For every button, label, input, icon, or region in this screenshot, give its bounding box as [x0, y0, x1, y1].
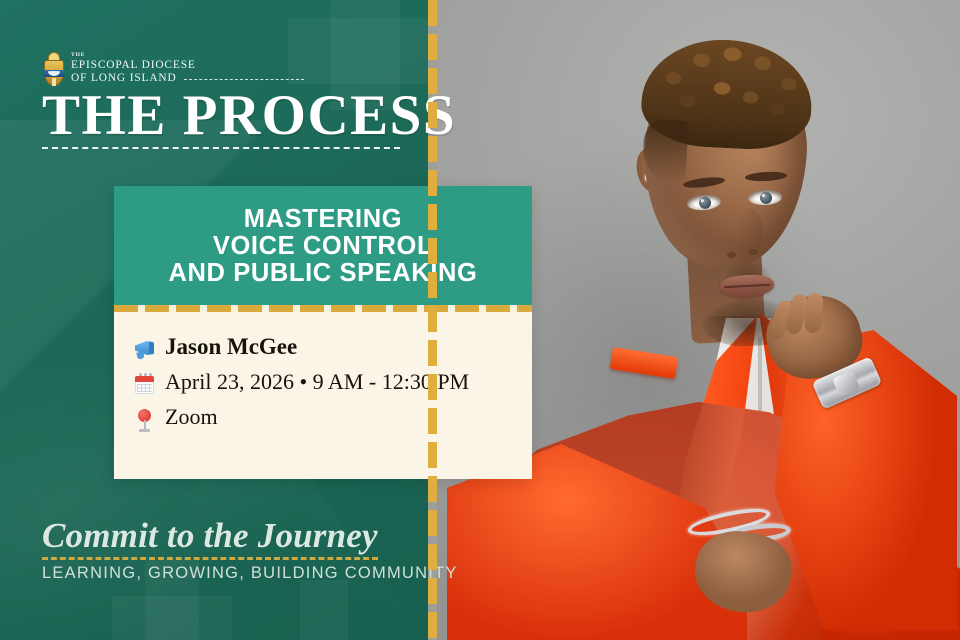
diocese-line-two: OF LONG ISLAND — [71, 72, 177, 85]
pin-base — [139, 429, 150, 432]
event-details: Jason McGee April 23, 2026 • 9 AM - 12:3… — [114, 312, 532, 479]
calendar-icon — [132, 371, 157, 397]
calendar-grid — [137, 384, 152, 392]
nostril-right — [749, 249, 758, 255]
diocese-identity: THE EPISCOPAL DIOCESE OF LONG ISLAND — [42, 52, 404, 88]
calendar-header — [135, 376, 154, 382]
shield-band — [44, 70, 64, 77]
diocese-wordmark: THE EPISCOPAL DIOCESE OF LONG ISLAND — [71, 52, 304, 85]
tagline-dashed-rule — [42, 557, 378, 560]
event-promo-poster: THE EPISCOPAL DIOCESE OF LONG ISLAND THE… — [0, 0, 960, 640]
episcopal-shield-crest-icon — [42, 52, 66, 88]
card-gold-dashed-strip — [114, 305, 532, 312]
event-title-banner: MASTERING VOICE CONTROL AND PUBLIC SPEAK… — [114, 186, 532, 305]
gold-dashed-divider — [428, 0, 437, 640]
diocese-line-one: EPISCOPAL DIOCESE — [71, 59, 304, 72]
event-location: Zoom — [165, 404, 218, 430]
event-title-line-2: VOICE CONTROL — [136, 233, 510, 260]
megaphone-handle — [136, 351, 144, 359]
event-datetime: April 23, 2026 • 9 AM - 12:30 PM — [165, 369, 469, 395]
background-cross-motif — [112, 596, 232, 640]
diocese-line-two-row: OF LONG ISLAND — [71, 72, 304, 85]
background-cross-motif — [300, 580, 348, 640]
iris-right — [760, 192, 772, 204]
detail-row-location: Zoom — [132, 404, 510, 432]
detail-row-speaker: Jason McGee — [132, 334, 510, 362]
event-title-line-1: MASTERING — [136, 206, 510, 233]
masthead: THE EPISCOPAL DIOCESE OF LONG ISLAND THE… — [42, 52, 404, 149]
tagline-subline: LEARNING, GROWING, BUILDING COMMUNITY — [42, 564, 402, 583]
nostril-left — [727, 252, 736, 258]
detail-row-datetime: April 23, 2026 • 9 AM - 12:30 PM — [132, 369, 510, 397]
title-dashed-rule — [42, 147, 400, 149]
diocese-dashed-rule — [184, 79, 304, 80]
event-title-line-3: AND PUBLIC SPEAKING — [136, 260, 510, 287]
breast-pocket — [610, 347, 679, 379]
tagline-headline: Commit to the Journey — [42, 516, 402, 556]
event-card: MASTERING VOICE CONTROL AND PUBLIC SPEAK… — [114, 186, 532, 479]
shield-cross — [52, 78, 56, 86]
iris-left — [699, 196, 712, 209]
location-pin-icon — [132, 406, 157, 432]
tagline-block: Commit to the Journey LEARNING, GROWING,… — [42, 516, 402, 583]
page-title: THE PROCESS — [42, 86, 404, 146]
megaphone-icon — [132, 336, 157, 362]
speaker-name: Jason McGee — [165, 334, 297, 360]
